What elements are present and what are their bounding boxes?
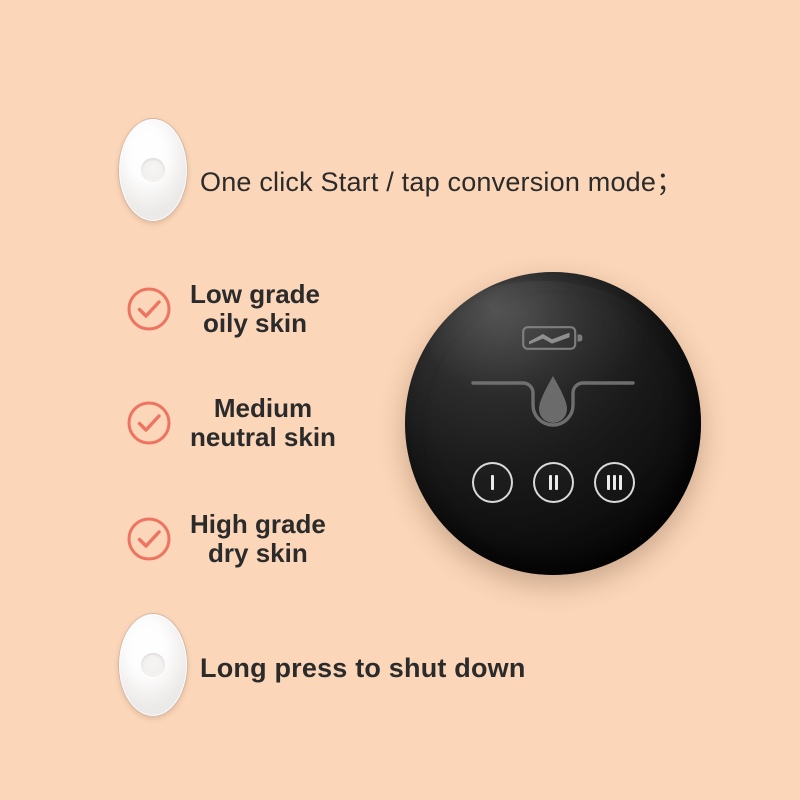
mode-label-line2: oily skin bbox=[203, 308, 307, 338]
mode-label-line1: High grade bbox=[190, 509, 326, 539]
mode-item-medium: Mediumneutral skin bbox=[126, 394, 336, 452]
level-button-1[interactable] bbox=[472, 462, 513, 503]
mode-label-low-grade: Low gradeoily skin bbox=[190, 280, 320, 338]
fingertip-nail-detail bbox=[141, 653, 165, 677]
level-button-2[interactable] bbox=[533, 462, 574, 503]
level-button-row bbox=[405, 462, 701, 503]
battery-charging-icon bbox=[522, 324, 584, 352]
mode-item-high-grade: High gradedry skin bbox=[126, 510, 326, 568]
check-circle-icon bbox=[126, 400, 172, 446]
level-bar bbox=[613, 475, 616, 490]
level-bar bbox=[549, 475, 552, 490]
mode-label-line1: Medium bbox=[214, 393, 312, 423]
mode-label-line2: dry skin bbox=[208, 538, 308, 568]
level-button-3[interactable] bbox=[594, 462, 635, 503]
level-bar bbox=[619, 475, 622, 490]
mode-label-medium: Mediumneutral skin bbox=[190, 394, 336, 452]
fingertip-nail-detail bbox=[141, 158, 165, 182]
skin-device-body bbox=[405, 272, 701, 575]
product-instruction-poster: One click Start / tap conversion mode； L… bbox=[0, 0, 800, 800]
shutdown-instruction-text: Long press to shut down bbox=[200, 653, 526, 684]
mode-label-line2: neutral skin bbox=[190, 422, 336, 452]
mode-label-line1: Low grade bbox=[190, 279, 320, 309]
level-bar bbox=[555, 475, 558, 490]
mode-label-high-grade: High gradedry skin bbox=[190, 510, 326, 568]
start-instruction-text: One click Start / tap conversion mode； bbox=[200, 160, 683, 199]
fingertip-long-press-icon bbox=[118, 613, 188, 717]
check-circle-icon bbox=[126, 286, 172, 332]
check-circle-icon bbox=[126, 516, 172, 562]
fingertip-tap-icon bbox=[118, 118, 188, 222]
level-bar bbox=[607, 475, 610, 490]
skin-pore-droplet-icon bbox=[471, 370, 635, 444]
level-bar bbox=[491, 475, 494, 490]
mode-item-low-grade: Low gradeoily skin bbox=[126, 280, 320, 338]
